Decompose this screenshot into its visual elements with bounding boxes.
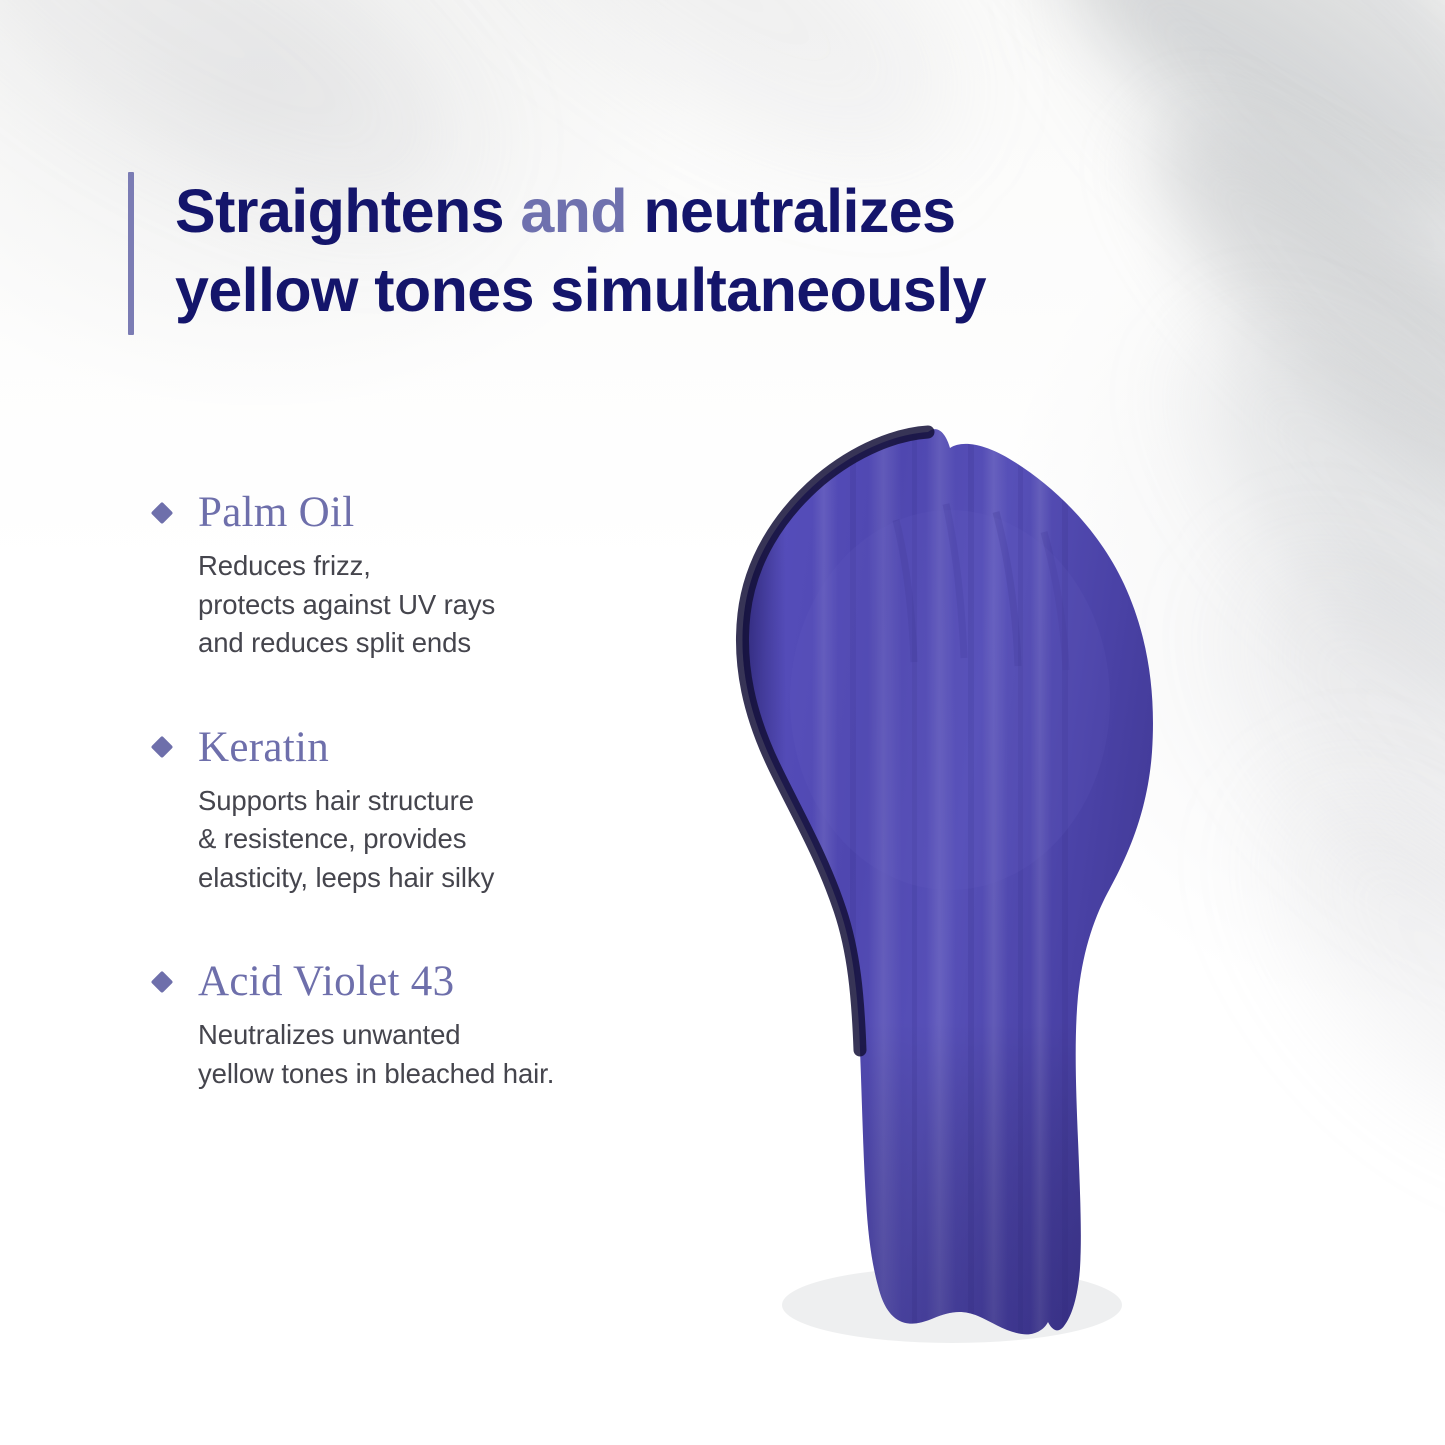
headline-line-2: yellow tones simultaneously (175, 256, 986, 324)
ingredient-title: Acid Violet 43 (198, 959, 454, 1004)
ingredient-item-keratin: Keratin Supports hair structure & resist… (150, 725, 710, 898)
ingredient-title: Palm Oil (198, 490, 355, 535)
ingredient-description: Supports hair structure & resistence, pr… (198, 782, 710, 898)
ingredient-list: Palm Oil Reduces frizz, protects against… (150, 490, 710, 1093)
headline-word-1: Straightens (175, 177, 504, 245)
diamond-bullet-icon (151, 501, 174, 524)
ingredient-item-acid-violet-43: Acid Violet 43 Neutralizes unwanted yell… (150, 959, 710, 1093)
purple-hair-mask-swatch (700, 400, 1220, 1360)
page-title: Straightens and neutralizes yellow tones… (175, 172, 986, 335)
ingredient-description: Neutralizes unwanted yellow tones in ble… (198, 1016, 710, 1093)
ingredient-header: Acid Violet 43 (150, 959, 710, 1004)
ingredient-title: Keratin (198, 725, 329, 770)
diamond-bullet-icon (151, 971, 174, 994)
accent-bar (128, 172, 134, 335)
ingredient-header: Keratin (150, 725, 710, 770)
ingredient-header: Palm Oil (150, 490, 710, 535)
diamond-bullet-icon (151, 736, 174, 759)
ingredient-description: Reduces frizz, protects against UV rays … (198, 547, 710, 663)
headline-block: Straightens and neutralizes yellow tones… (128, 172, 1108, 335)
product-infographic-canvas: Straightens and neutralizes yellow tones… (0, 0, 1445, 1445)
headline-word-2: and (520, 177, 627, 245)
headline-word-3: neutralizes (643, 177, 955, 245)
ingredient-item-palm-oil: Palm Oil Reduces frizz, protects against… (150, 490, 710, 663)
